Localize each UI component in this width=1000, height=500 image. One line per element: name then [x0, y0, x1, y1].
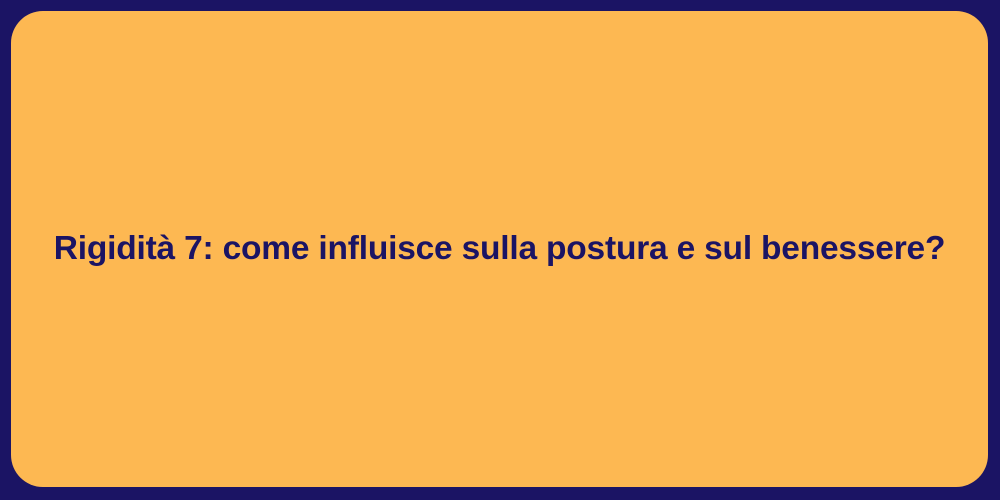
- content-card: Rigidità 7: come influisce sulla postura…: [11, 11, 988, 487]
- page-root: Rigidità 7: come influisce sulla postura…: [0, 0, 1000, 500]
- page-title: Rigidità 7: come influisce sulla postura…: [54, 228, 946, 270]
